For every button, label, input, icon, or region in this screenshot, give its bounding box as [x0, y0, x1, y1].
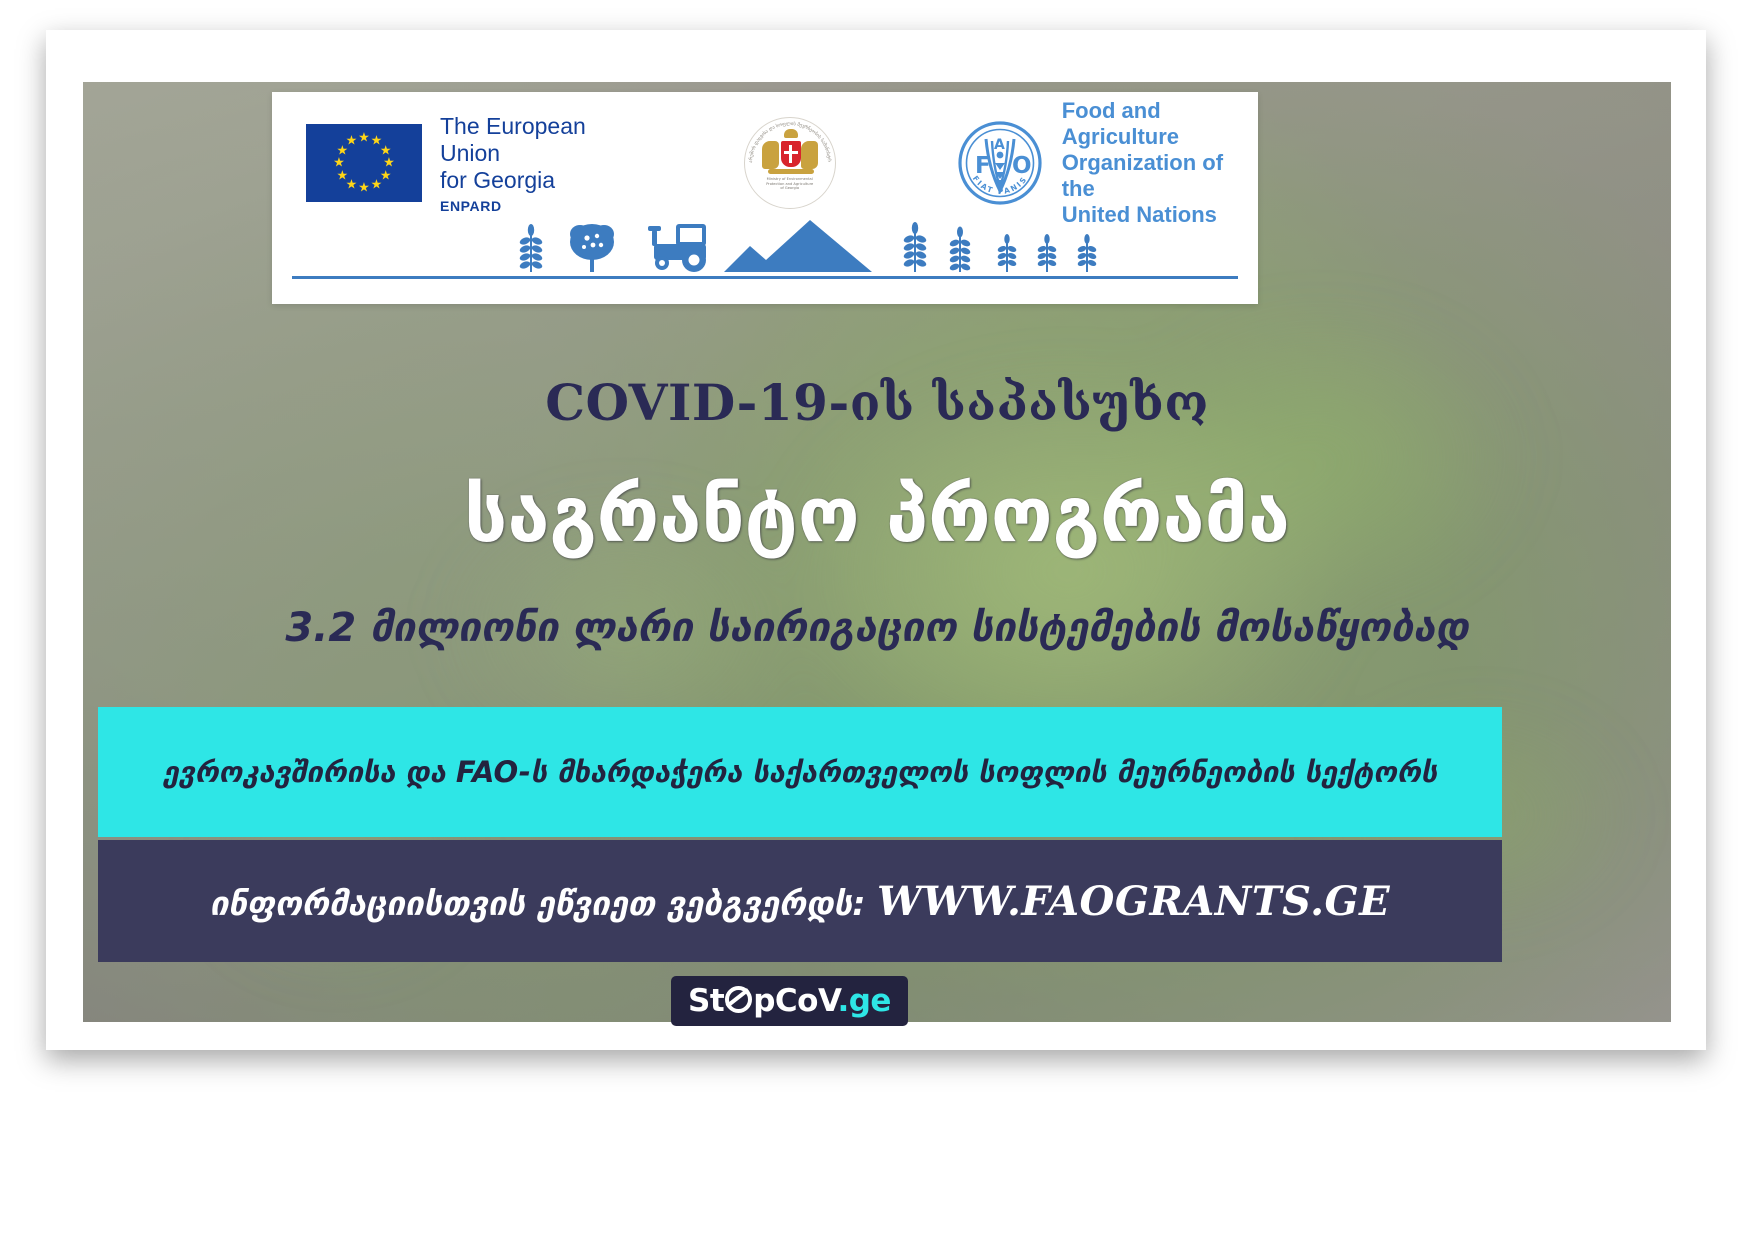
eu-star-icon: ★ — [358, 132, 370, 145]
stopcov-part-cov: CoV — [775, 983, 838, 1019]
eu-star-icon: ★ — [358, 182, 370, 195]
fao-logo-block: F O A FIAT PANIS — [954, 98, 1258, 228]
eu-line-2: for Georgia — [440, 167, 626, 194]
lion-left-icon — [762, 141, 779, 169]
logo-row: ★★★★★★★★★★★★ The European Union for Geor… — [272, 108, 1258, 218]
eu-star-icon: ★ — [371, 178, 383, 191]
eu-logo-block: ★★★★★★★★★★★★ The European Union for Geor… — [306, 113, 626, 214]
fao-line-1: Food and Agriculture — [1062, 98, 1258, 150]
emblem-caption-3: of Georgia — [754, 186, 826, 191]
crown-icon — [784, 129, 798, 138]
svg-text:A: A — [994, 137, 1005, 153]
mountains-icon — [724, 220, 872, 276]
stopcov-badge[interactable]: StpCoV.ge — [671, 976, 908, 1026]
strip-baseline — [292, 276, 1238, 279]
eu-star-icon: ★ — [346, 135, 358, 148]
stopcov-part-p: p — [753, 983, 775, 1019]
stopcov-badge-label: StpCoV.ge — [688, 983, 891, 1019]
website-info-text: ინფორმაციისთვის ეწვიეთ ვებგვერდს: WWW.FA… — [184, 878, 1416, 925]
logo-band: ★★★★★★★★★★★★ The European Union for Geor… — [272, 92, 1258, 304]
wheat-icon — [902, 222, 928, 276]
support-message-bar: ევროკავშირისა და FAO-ს მხარდაჭერა საქართ… — [98, 707, 1502, 837]
wheat-icon — [1036, 234, 1058, 276]
page-title: საგრანტო პროგრამა — [0, 470, 1754, 559]
coat-of-arms-icon — [760, 127, 820, 183]
wheat-icon — [948, 226, 972, 276]
tractor-icon — [642, 218, 718, 276]
eu-star-icon: ★ — [333, 157, 345, 170]
eu-logo-text: The European Union for Georgia ENPARD — [440, 113, 626, 214]
wheat-icon — [518, 224, 544, 276]
georgia-ministry-emblem-icon: გარემოს დაცვისა და სოფლის მეურნეობის სამ… — [744, 117, 836, 209]
stopcov-part-st: St — [688, 983, 724, 1019]
no-entry-icon — [725, 986, 752, 1013]
website-prefix-label: ინფორმაციისთვის ეწვიეთ ვებგვერდს: — [210, 884, 866, 923]
fao-logo-text: Food and Agriculture Organization of the… — [1062, 98, 1258, 228]
tree-icon — [567, 220, 617, 276]
grant-amount-subtitle: 3.2 მილიონი ლარი საირიგაციო სისტემების მ… — [0, 605, 1754, 651]
emblem-base — [768, 169, 814, 174]
lion-right-icon — [801, 141, 818, 169]
emblem-caption: Ministry of Environmental Protection and… — [754, 177, 826, 191]
poster-page: ★★★★★★★★★★★★ The European Union for Geor… — [0, 0, 1754, 1256]
european-union-flag-icon: ★★★★★★★★★★★★ — [306, 124, 422, 202]
enpard-label: ENPARD — [440, 198, 626, 214]
website-info-bar: ინფორმაციისთვის ეწვიეთ ვებგვერდს: WWW.FA… — [98, 840, 1502, 962]
eu-line-1: The European Union — [440, 113, 626, 167]
support-message-text: ევროკავშირისა და FAO-ს მხარდაჭერა საქართ… — [137, 755, 1464, 789]
st-george-shield-icon — [781, 141, 801, 167]
fao-line-2: Organization of the — [1062, 150, 1258, 202]
eu-star-icon: ★ — [337, 169, 349, 182]
covid-response-heading: COVID-19-ის საპასუხო — [0, 373, 1754, 432]
wheat-icon — [996, 234, 1018, 276]
stopcov-part-ge: .ge — [837, 983, 891, 1019]
fao-emblem-icon: F O A FIAT PANIS — [954, 117, 1046, 209]
wheat-icon — [1076, 234, 1098, 276]
agriculture-icon-strip — [272, 218, 1258, 280]
website-url-link[interactable]: WWW.FAOGRANTS.GE — [877, 878, 1390, 925]
